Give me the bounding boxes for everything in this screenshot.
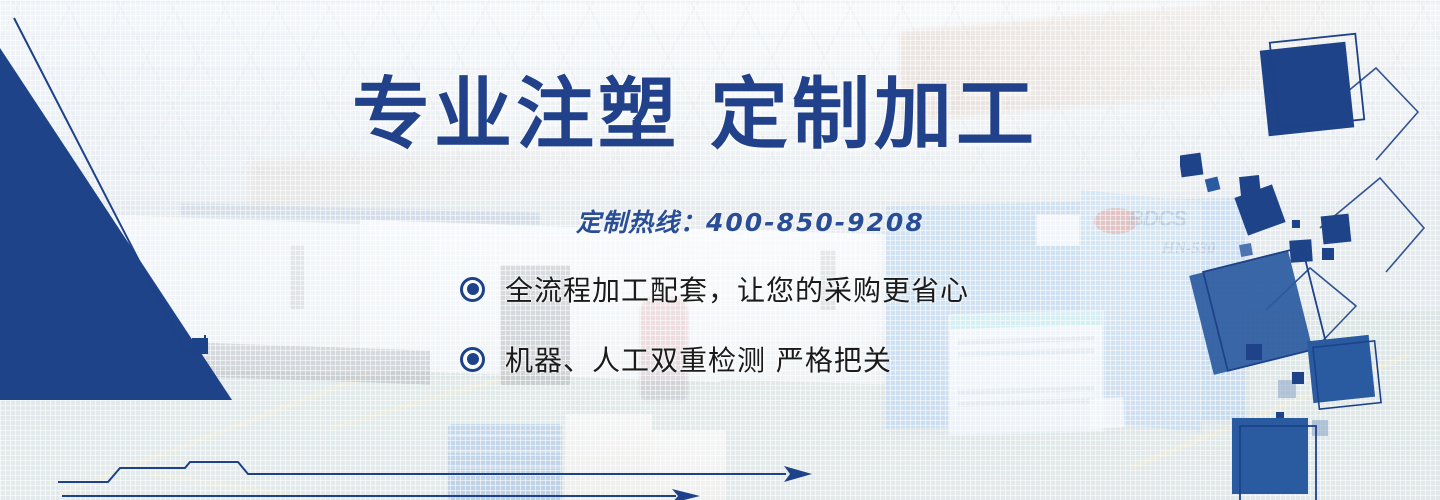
promo-banner: BDCS HN-530: [0, 0, 1440, 500]
bullet-text: 全流程加工配套，让您的采购更省心: [505, 269, 969, 309]
radio-dot-icon: [460, 277, 485, 302]
radio-dot-icon: [460, 347, 485, 372]
hotline-label: 定制热线：: [576, 208, 706, 237]
headline-part-1: 专业注塑: [352, 70, 680, 160]
list-item: 全流程加工配套，让您的采购更省心: [460, 268, 969, 310]
headline-part-2: 定制加工: [710, 70, 1038, 160]
hotline-number[interactable]: 400-850-9208: [706, 208, 925, 237]
feature-bullet-list: 全流程加工配套，让您的采购更省心 机器、人工双重检测 严格把关: [460, 268, 969, 408]
list-item: 机器、人工双重检测 严格把关: [460, 338, 969, 380]
banner-content: 专业注塑定制加工 定制热线：400-850-9208 全流程加工配套，让您的采购…: [0, 0, 1440, 500]
bullet-text: 机器、人工双重检测 严格把关: [505, 339, 892, 379]
banner-headline: 专业注塑定制加工: [352, 76, 1038, 154]
hotline-line: 定制热线：400-850-9208: [576, 203, 925, 239]
